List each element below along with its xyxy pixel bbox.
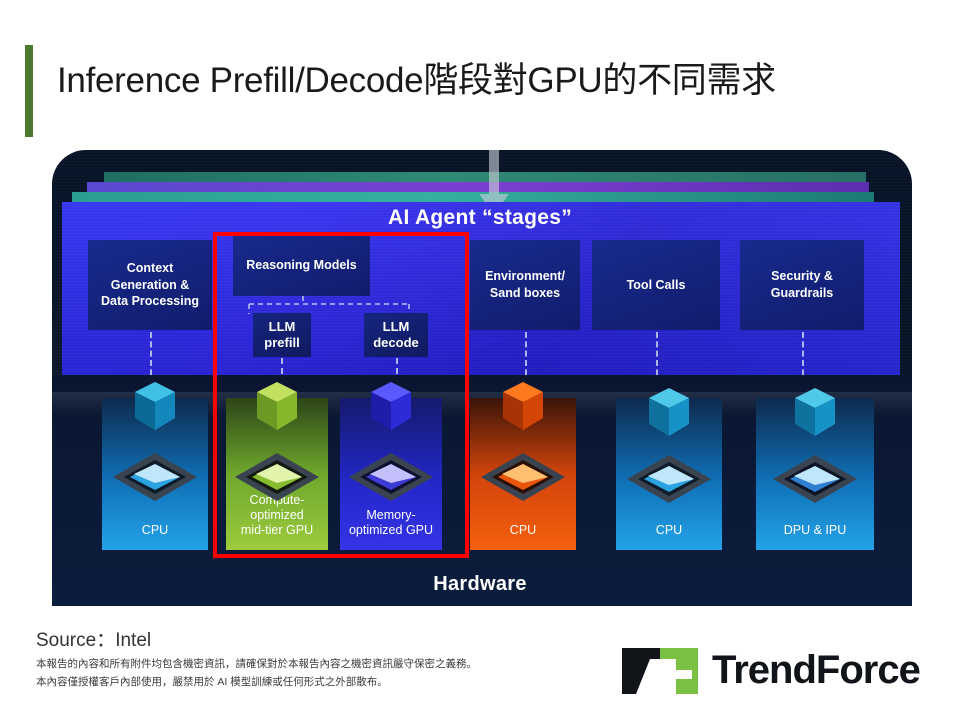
hardware-column-dpu-ipu-label: DPU & IPU bbox=[756, 523, 874, 538]
stage-box-tool-calls-label: Tool Calls bbox=[627, 277, 686, 294]
cube-icon-cpu-3 bbox=[647, 386, 691, 440]
cube-icon-cpu-1 bbox=[133, 380, 177, 434]
cube-icon-dpu-ipu bbox=[793, 386, 837, 440]
chip-icon-cpu-2 bbox=[478, 450, 568, 504]
brand-name: TrendForce bbox=[712, 648, 920, 693]
hardware-column-cpu-1-label: CPU bbox=[102, 523, 208, 538]
chip-icon-cpu-3 bbox=[624, 452, 714, 506]
cube-icon-cpu-2 bbox=[501, 380, 545, 434]
chip-icon-cpu-1 bbox=[110, 450, 200, 504]
stage-box-environment[interactable]: Environment/Sand boxes bbox=[470, 240, 580, 330]
stages-title: AI Agent “stages” bbox=[0, 206, 960, 230]
disclaimer-line-1: 本報告的內容和所有附件均包含機密資訊，請確保對於本報告內容之機密資訊嚴守保密之義… bbox=[36, 655, 576, 673]
hardware-column-cpu-2-label: CPU bbox=[470, 523, 576, 538]
stage-box-environment-label: Environment/Sand boxes bbox=[485, 268, 565, 302]
title-accent-bar bbox=[25, 45, 33, 137]
hardware-title: Hardware bbox=[0, 573, 960, 596]
source-text: Source：Intel bbox=[36, 625, 151, 652]
stage-box-context-label: ContextGeneration &Data Processing bbox=[101, 260, 199, 311]
disclaimer-text: 本報告的內容和所有附件均包含機密資訊，請確保對於本報告內容之機密資訊嚴守保密之義… bbox=[36, 655, 576, 692]
disclaimer-line-2: 本內容僅授權客戶內部使用，嚴禁用於 AI 模型訓練或任何形式之外部散布。 bbox=[36, 673, 576, 691]
stage-box-context[interactable]: ContextGeneration &Data Processing bbox=[88, 240, 212, 330]
stage-box-tool-calls[interactable]: Tool Calls bbox=[592, 240, 720, 330]
stage-box-security-label: Security &Guardrails bbox=[771, 268, 834, 302]
hardware-column-cpu-3-label: CPU bbox=[616, 523, 722, 538]
page-title: Inference Prefill/Decode階段對GPU的不同需求 bbox=[57, 60, 927, 102]
highlight-box bbox=[213, 232, 469, 558]
chip-icon-dpu-ipu bbox=[770, 452, 860, 506]
stage-box-security[interactable]: Security &Guardrails bbox=[740, 240, 864, 330]
